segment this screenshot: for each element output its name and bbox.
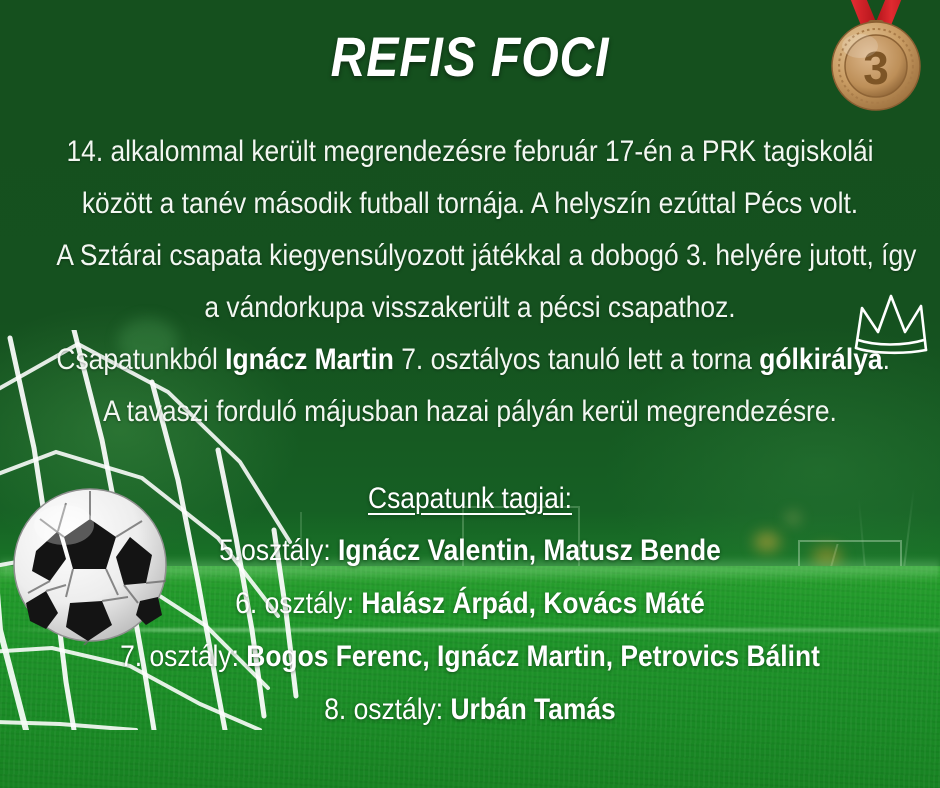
member-row: 8. osztály: Urbán Tamás [56, 683, 883, 736]
body-text: Csapatunkból [56, 343, 225, 376]
member-row: 5.osztály: Ignácz Valentin, Matusz Bende [56, 524, 883, 577]
members-heading: Csapatunk tagjai: [56, 474, 883, 524]
body-line: A Sztárai csapata kiegyensúlyozott játék… [56, 230, 883, 282]
body-text: 7. osztályos tanuló lett a torna [394, 343, 759, 376]
body-paragraph: 14. alkalommal került megrendezésre febr… [0, 126, 940, 438]
body-line: 14. alkalommal került megrendezésre febr… [56, 126, 883, 178]
body-line: Csapatunkból Ignácz Martin 7. osztályos … [56, 334, 883, 386]
members-section: Csapatunk tagjai: 5.osztály: Ignácz Vale… [0, 474, 940, 736]
body-line: A tavaszi forduló májusban hazai pályán … [56, 386, 883, 438]
text-content: REFIS FOCI 14. alkalommal került megrend… [0, 0, 940, 788]
member-row-label: 8. osztály: [324, 693, 450, 726]
member-row-names: Ignácz Valentin, Matusz Bende [338, 534, 721, 567]
member-row-names: Urbán Tamás [450, 693, 615, 726]
body-text: 14. alkalommal került megrendezésre febr… [66, 135, 873, 168]
member-row-label: 6. osztály: [235, 587, 361, 620]
poster-canvas: 3 REFIS FOCI 14. alkalommal került megre… [0, 0, 940, 788]
body-emphasis: Ignácz Martin [225, 343, 394, 376]
member-row: 6. osztály: Halász Árpád, Kovács Máté [56, 577, 883, 630]
member-row: 7. osztály: Bogos Ferenc, Ignácz Martin,… [56, 630, 883, 683]
body-text: között a tanév második futball tornája. … [82, 187, 858, 220]
member-row-label: 5.osztály: [219, 534, 338, 567]
body-text: A tavaszi forduló májusban hazai pályán … [103, 395, 837, 428]
body-line: a vándorkupa visszakerült a pécsi csapat… [56, 282, 883, 334]
member-row-label: 7. osztály: [120, 640, 246, 673]
body-text: A Sztárai csapata kiegyensúlyozott játék… [56, 239, 916, 272]
body-text: a vándorkupa visszakerült a pécsi csapat… [204, 291, 735, 324]
member-row-names: Bogos Ferenc, Ignácz Martin, Petrovics B… [246, 640, 820, 673]
body-text: . [883, 343, 890, 376]
member-row-names: Halász Árpád, Kovács Máté [361, 587, 704, 620]
body-emphasis: gólkirálya [759, 343, 882, 376]
page-title: REFIS FOCI [66, 24, 874, 89]
body-line: között a tanév második futball tornája. … [56, 178, 883, 230]
